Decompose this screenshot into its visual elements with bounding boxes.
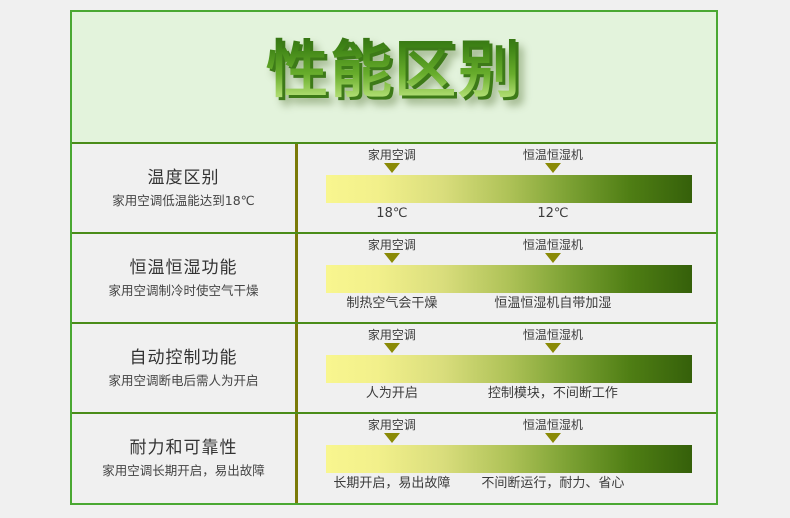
scale-caption: 18℃ (376, 205, 407, 223)
scale-marker: 恒温恒湿机 (498, 238, 608, 263)
poster-header: 性能区别 (72, 12, 716, 144)
row-title: 自动控制功能 (130, 346, 238, 370)
row-scale-cell: 家用空调人为开启恒温恒湿机控制模块，不间断工作 (298, 324, 716, 412)
row-subtitle: 家用空调断电后需人为开启 (108, 371, 258, 391)
arrow-down-icon (384, 343, 400, 353)
row-subtitle: 家用空调长期开启，易出故障 (102, 461, 265, 481)
row-label-cell: 恒温恒湿功能家用空调制冷时使空气干燥 (72, 234, 298, 322)
scale-caption: 人为开启 (366, 385, 418, 403)
scale-marker: 恒温恒湿机 (498, 148, 608, 173)
row-label-cell: 自动控制功能家用空调断电后需人为开启 (72, 324, 298, 412)
comparison-rows: 温度区别家用空调低温能达到18℃家用空调18℃恒温恒湿机12℃恒温恒湿功能家用空… (72, 144, 716, 503)
scale-marker: 家用空调 (337, 148, 447, 173)
scale-marker-label: 恒温恒湿机 (498, 328, 608, 342)
row-scale-cell: 家用空调长期开启，易出故障恒温恒湿机不间断运行，耐力、省心 (298, 414, 716, 503)
gradient-scale-bar (326, 445, 692, 473)
scale-marker-label: 家用空调 (337, 148, 447, 162)
scale-marker: 恒温恒湿机 (498, 418, 608, 443)
scale-caption: 长期开启，易出故障 (333, 475, 450, 493)
row-title: 恒温恒湿功能 (130, 256, 238, 280)
scale-caption: 制热空气会干燥 (346, 295, 437, 313)
row-scale-cell: 家用空调18℃恒温恒湿机12℃ (298, 144, 716, 232)
arrow-down-icon (384, 253, 400, 263)
arrow-down-icon (545, 253, 561, 263)
row-title: 耐力和可靠性 (130, 436, 238, 460)
row-subtitle: 家用空调低温能达到18℃ (112, 191, 254, 211)
arrow-down-icon (545, 433, 561, 443)
arrow-down-icon (545, 163, 561, 173)
gradient-scale-bar (326, 355, 692, 383)
scale-caption: 恒温恒湿机自带加湿 (494, 295, 611, 313)
scale-marker-label: 恒温恒湿机 (498, 238, 608, 252)
arrow-down-icon (384, 163, 400, 173)
scale-marker: 家用空调 (337, 418, 447, 443)
row-label-cell: 温度区别家用空调低温能达到18℃ (72, 144, 298, 232)
comparison-row: 耐力和可靠性家用空调长期开启，易出故障家用空调长期开启，易出故障恒温恒湿机不间断… (72, 414, 716, 503)
row-label-cell: 耐力和可靠性家用空调长期开启，易出故障 (72, 414, 298, 503)
arrow-down-icon (384, 433, 400, 443)
gradient-scale-bar (326, 265, 692, 293)
page-title: 性能区别 (72, 30, 716, 110)
gradient-scale-bar (326, 175, 692, 203)
comparison-row: 恒温恒湿功能家用空调制冷时使空气干燥家用空调制热空气会干燥恒温恒湿机恒温恒湿机自… (72, 234, 716, 324)
scale-marker-label: 家用空调 (337, 418, 447, 432)
scale-caption: 12℃ (537, 205, 568, 223)
scale-caption: 不间断运行，耐力、省心 (481, 475, 624, 493)
scale-marker: 恒温恒湿机 (498, 328, 608, 353)
row-subtitle: 家用空调制冷时使空气干燥 (108, 281, 258, 301)
scale-marker-label: 家用空调 (337, 238, 447, 252)
scale-caption: 控制模块，不间断工作 (488, 385, 618, 403)
scale-marker-label: 家用空调 (337, 328, 447, 342)
comparison-poster: 性能区别 温度区别家用空调低温能达到18℃家用空调18℃恒温恒湿机12℃恒温恒湿… (70, 10, 718, 505)
scale-marker: 家用空调 (337, 238, 447, 263)
scale-marker-label: 恒温恒湿机 (498, 418, 608, 432)
row-title: 温度区别 (148, 166, 220, 190)
scale-marker: 家用空调 (337, 328, 447, 353)
row-scale-cell: 家用空调制热空气会干燥恒温恒湿机恒温恒湿机自带加湿 (298, 234, 716, 322)
comparison-row: 温度区别家用空调低温能达到18℃家用空调18℃恒温恒湿机12℃ (72, 144, 716, 234)
arrow-down-icon (545, 343, 561, 353)
scale-marker-label: 恒温恒湿机 (498, 148, 608, 162)
comparison-row: 自动控制功能家用空调断电后需人为开启家用空调人为开启恒温恒湿机控制模块，不间断工… (72, 324, 716, 414)
